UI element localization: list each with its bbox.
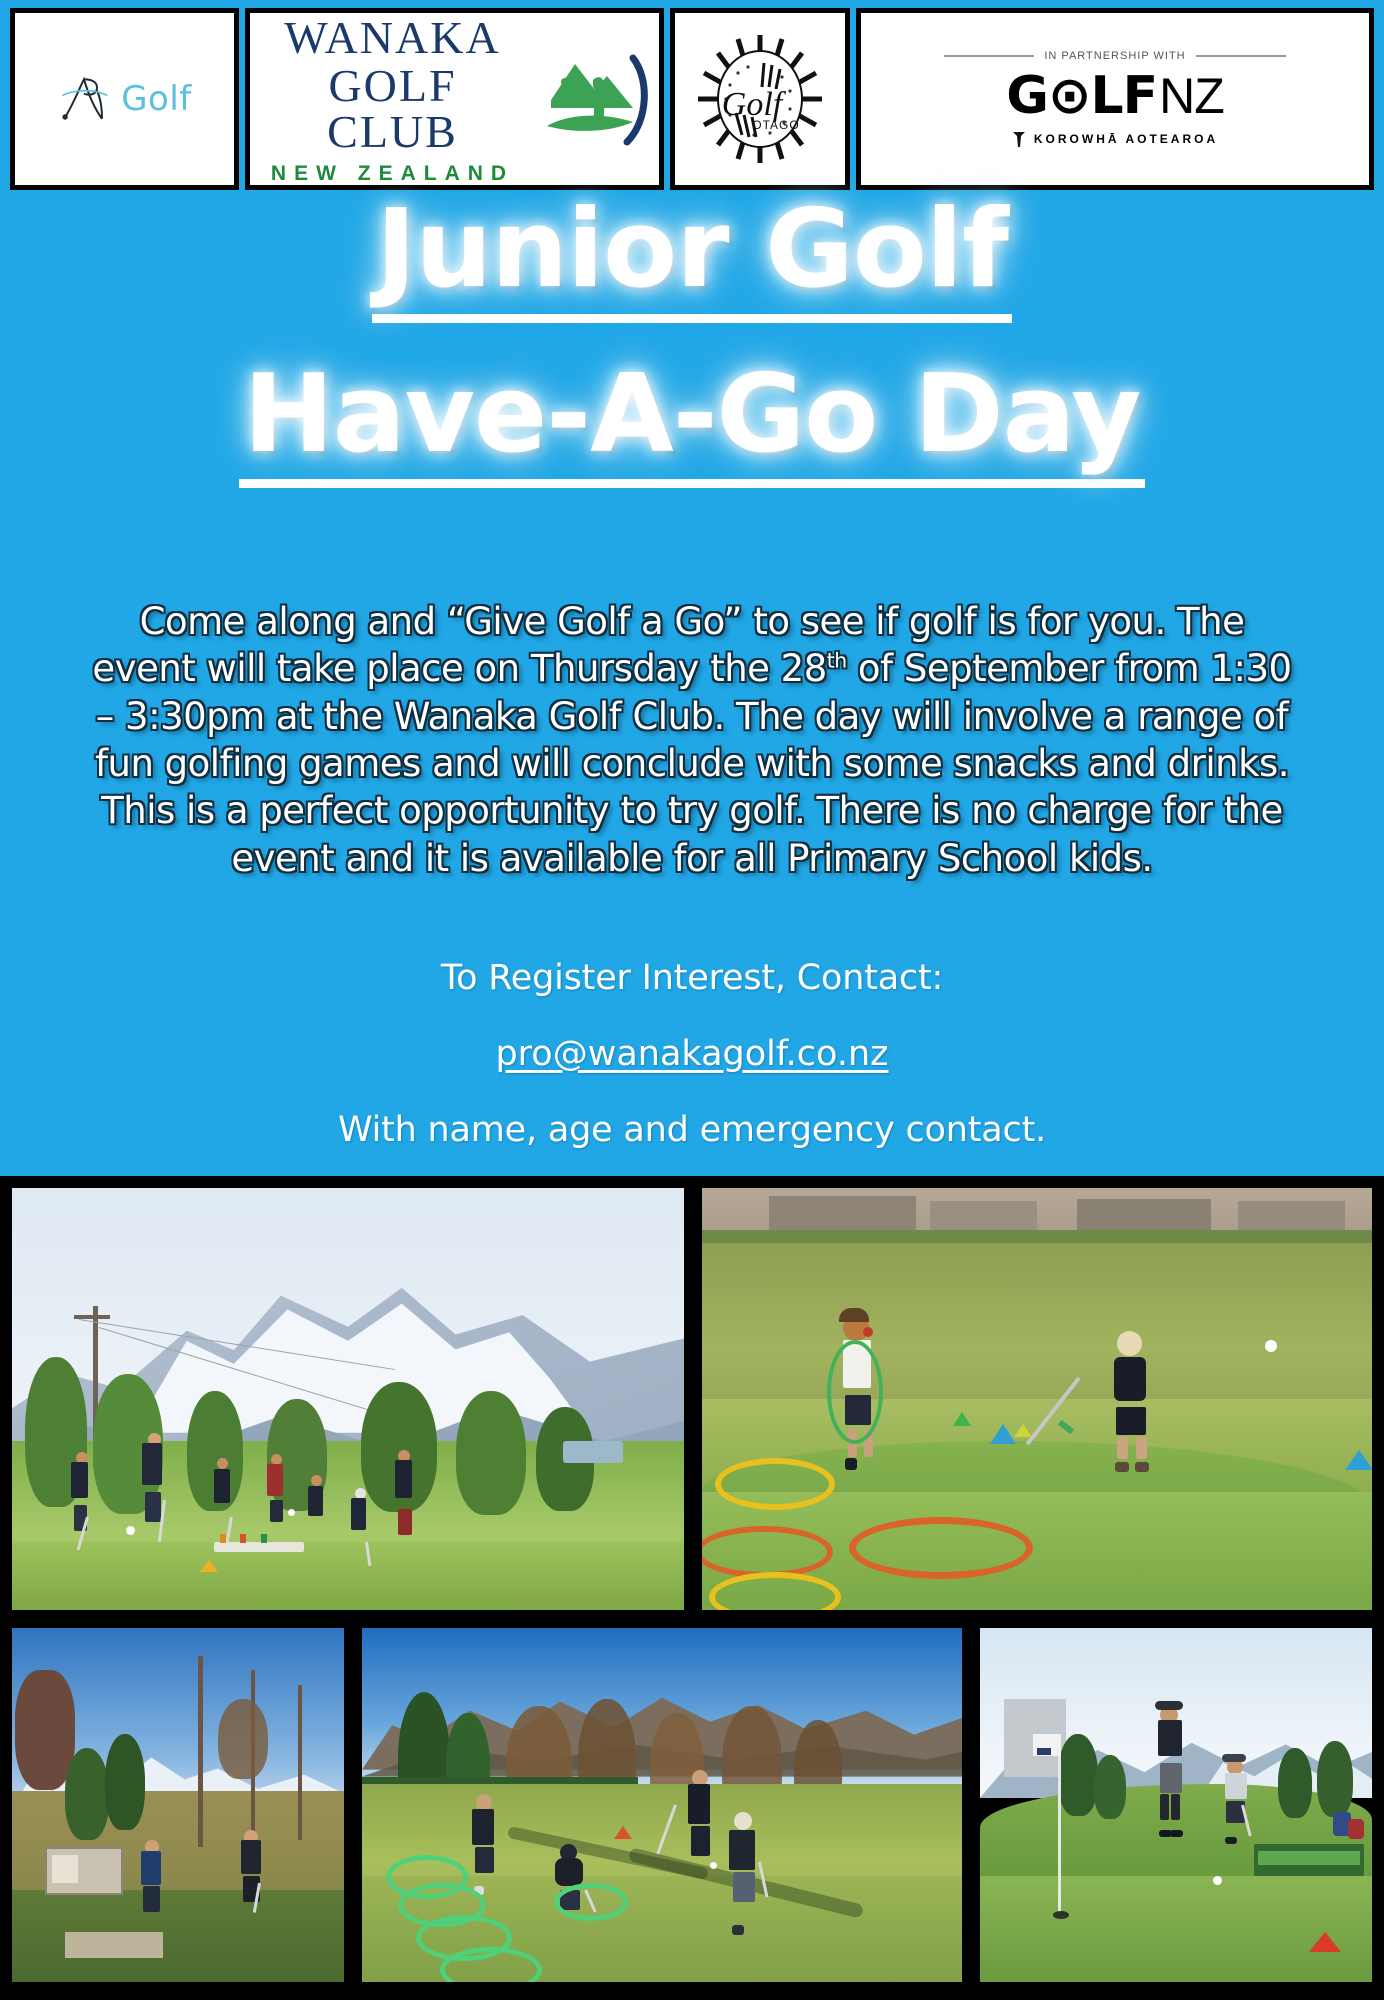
svg-text:OTAGO: OTAGO xyxy=(752,118,799,132)
page-title-line-2: Have-A-Go Day xyxy=(239,361,1144,488)
photo-collage xyxy=(0,1176,1384,2000)
partner-rule-left xyxy=(944,55,1034,57)
collage-row-bottom xyxy=(8,1624,1376,1986)
photo-kids-chipping-autumn xyxy=(8,1624,348,1986)
logo-golf-nz: IN PARTNERSHIP WITH G⊙LF NZ KOROWHĀ AOTE… xyxy=(856,8,1374,190)
poster: Golf WANAKA GOLF CLUB NEW ZEALAND xyxy=(0,0,1384,2000)
wanaka-line-1: WANAKA xyxy=(258,15,527,61)
date-ordinal-suffix: th xyxy=(827,649,847,673)
contact-block: To Register Interest, Contact: pro@wanak… xyxy=(0,958,1384,1150)
mountain-golfer-swoosh-icon xyxy=(541,44,651,154)
photo-kids-group-driving-range-mountains xyxy=(8,1184,688,1614)
page-title-line-1: Junior Golf xyxy=(372,196,1012,323)
golf-tee-icon xyxy=(1012,130,1026,148)
event-description: Come along and “Give Golf a Go” to see i… xyxy=(92,598,1292,882)
title-block: Junior Golf Have-A-Go Day xyxy=(0,196,1384,488)
golfnz-maori-name: KOROWHĀ AOTEAROA xyxy=(1034,132,1218,146)
photo-kids-hoops-course xyxy=(358,1624,966,1986)
photo-coach-and-child-green xyxy=(976,1624,1376,1986)
golfnz-nz-wordmark: NZ xyxy=(1159,67,1224,125)
logo-strip: Golf WANAKA GOLF CLUB NEW ZEALAND xyxy=(0,0,1384,190)
wanaka-line-3: NEW ZEALAND xyxy=(258,163,527,184)
wanaka-line-2: GOLF CLUB xyxy=(258,63,527,155)
golfnz-golf-wordmark: G⊙LF xyxy=(1006,66,1157,126)
golf-ball-burst-icon: Golf OTAGO xyxy=(690,29,830,169)
contact-note: With name, age and emergency contact. xyxy=(0,1110,1384,1150)
contact-email-link[interactable]: pro@wanakagolf.co.nz xyxy=(495,1034,888,1074)
contact-heading: To Register Interest, Contact: xyxy=(0,958,1384,998)
ar-monogram-icon xyxy=(57,72,111,126)
partnership-banner: IN PARTNERSHIP WITH xyxy=(873,50,1357,62)
logo-golf-otago: Golf OTAGO xyxy=(670,8,850,190)
partnership-label: IN PARTNERSHIP WITH xyxy=(1044,50,1185,62)
collage-row-top xyxy=(8,1184,1376,1614)
partner-rule-right xyxy=(1196,55,1286,57)
ar-golf-wordmark: Golf xyxy=(121,79,192,119)
logo-ar-golf: Golf xyxy=(10,8,239,190)
logo-wanaka-golf-club: WANAKA GOLF CLUB NEW ZEALAND xyxy=(245,8,664,190)
photo-two-boys-putting-green xyxy=(698,1184,1376,1614)
